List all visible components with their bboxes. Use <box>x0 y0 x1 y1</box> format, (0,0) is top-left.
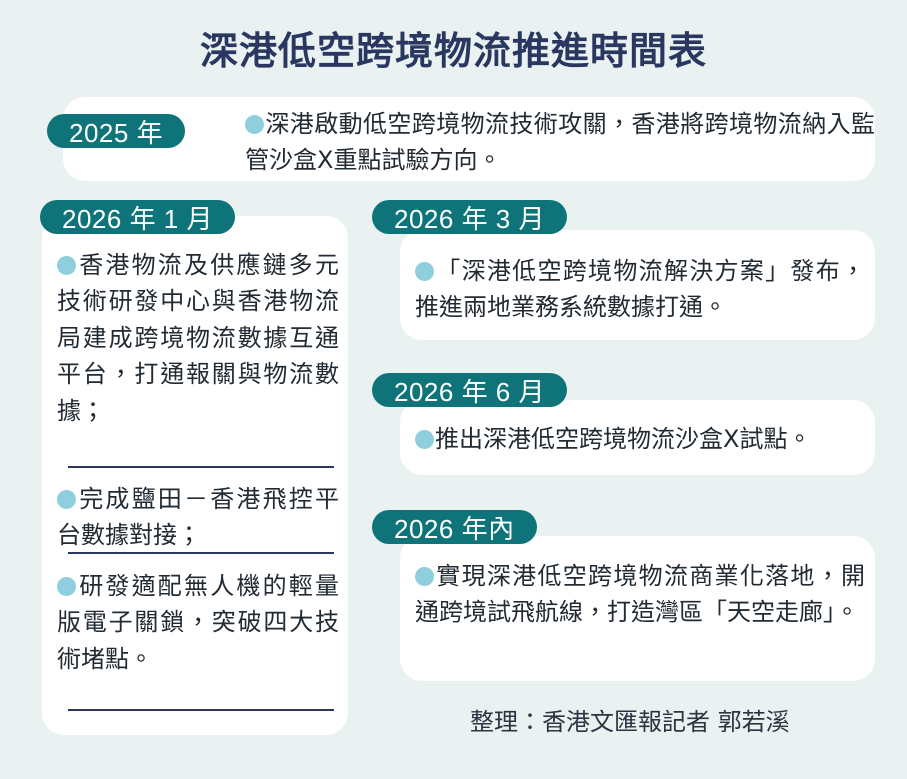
bullet-dot-icon <box>415 567 434 586</box>
date-pill-2026-03[interactable]: 2026 年 3 月 <box>372 200 567 234</box>
timeline-item-text: 研發適配無人機的輕量版電子關鎖，突破四大技術堵點。 <box>57 572 339 673</box>
timeline-text-2025: 深港啟動低空跨境物流技術攻關，香港將跨境物流納入監管沙盒X重點試驗方向。 <box>245 106 875 179</box>
date-pill-2025[interactable]: 2025 年 <box>47 114 185 148</box>
timeline-divider-2 <box>68 552 334 554</box>
bullet-dot-icon <box>415 262 434 281</box>
timeline-text-2026-01-item-2: 完成鹽田－香港飛控平台數據對接； <box>57 481 339 554</box>
timeline-item-text: 「深港低空跨境物流解決方案」發布，推進兩地業務系統數據打通。 <box>415 257 865 321</box>
date-pill-2026-01[interactable]: 2026 年 1 月 <box>40 200 235 234</box>
bullet-dot-icon <box>415 430 434 449</box>
page-title: 深港低空跨境物流推進時間表 <box>0 20 907 75</box>
timeline-divider-3 <box>68 709 334 711</box>
date-pill-2026-year[interactable]: 2026 年內 <box>372 510 537 544</box>
timeline-text-2026-01-item-3: 研發適配無人機的輕量版電子關鎖，突破四大技術堵點。 <box>57 568 339 677</box>
timeline-item-text: 香港物流及供應鏈多元技術研發中心與香港物流局建成跨境物流數據互通平台，打通報關與… <box>57 251 339 425</box>
timeline-text-2026-03: 「深港低空跨境物流解決方案」發布，推進兩地業務系統數據打通。 <box>415 253 865 326</box>
timeline-text-2026-01-item-1: 香港物流及供應鏈多元技術研發中心與香港物流局建成跨境物流數據互通平台，打通報關與… <box>57 247 339 429</box>
timeline-item-text: 深港啟動低空跨境物流技術攻關，香港將跨境物流納入監管沙盒X重點試驗方向。 <box>245 110 875 174</box>
infographic-page: 深港低空跨境物流推進時間表 2025 年 深港啟動低空跨境物流技術攻關，香港將跨… <box>0 0 907 779</box>
timeline-text-2026-year: 實現深港低空跨境物流商業化落地，開通跨境試飛航線，打造灣區「天空走廊」。 <box>415 558 865 631</box>
date-pill-2026-06[interactable]: 2026 年 6 月 <box>372 373 567 407</box>
credit-line: 整理：香港文匯報記者 郭若溪 <box>470 702 790 737</box>
timeline-item-text: 完成鹽田－香港飛控平台數據對接； <box>57 485 339 549</box>
bullet-dot-icon <box>57 490 76 509</box>
timeline-item-text: 實現深港低空跨境物流商業化落地，開通跨境試飛航線，打造灣區「天空走廊」。 <box>415 562 865 626</box>
bullet-dot-icon <box>57 577 76 596</box>
timeline-text-2026-06: 推出深港低空跨境物流沙盒X試點。 <box>415 421 865 457</box>
timeline-divider-1 <box>68 466 334 468</box>
timeline-item-text: 推出深港低空跨境物流沙盒X試點。 <box>435 425 811 453</box>
bullet-dot-icon <box>245 115 264 134</box>
bullet-dot-icon <box>57 256 76 275</box>
